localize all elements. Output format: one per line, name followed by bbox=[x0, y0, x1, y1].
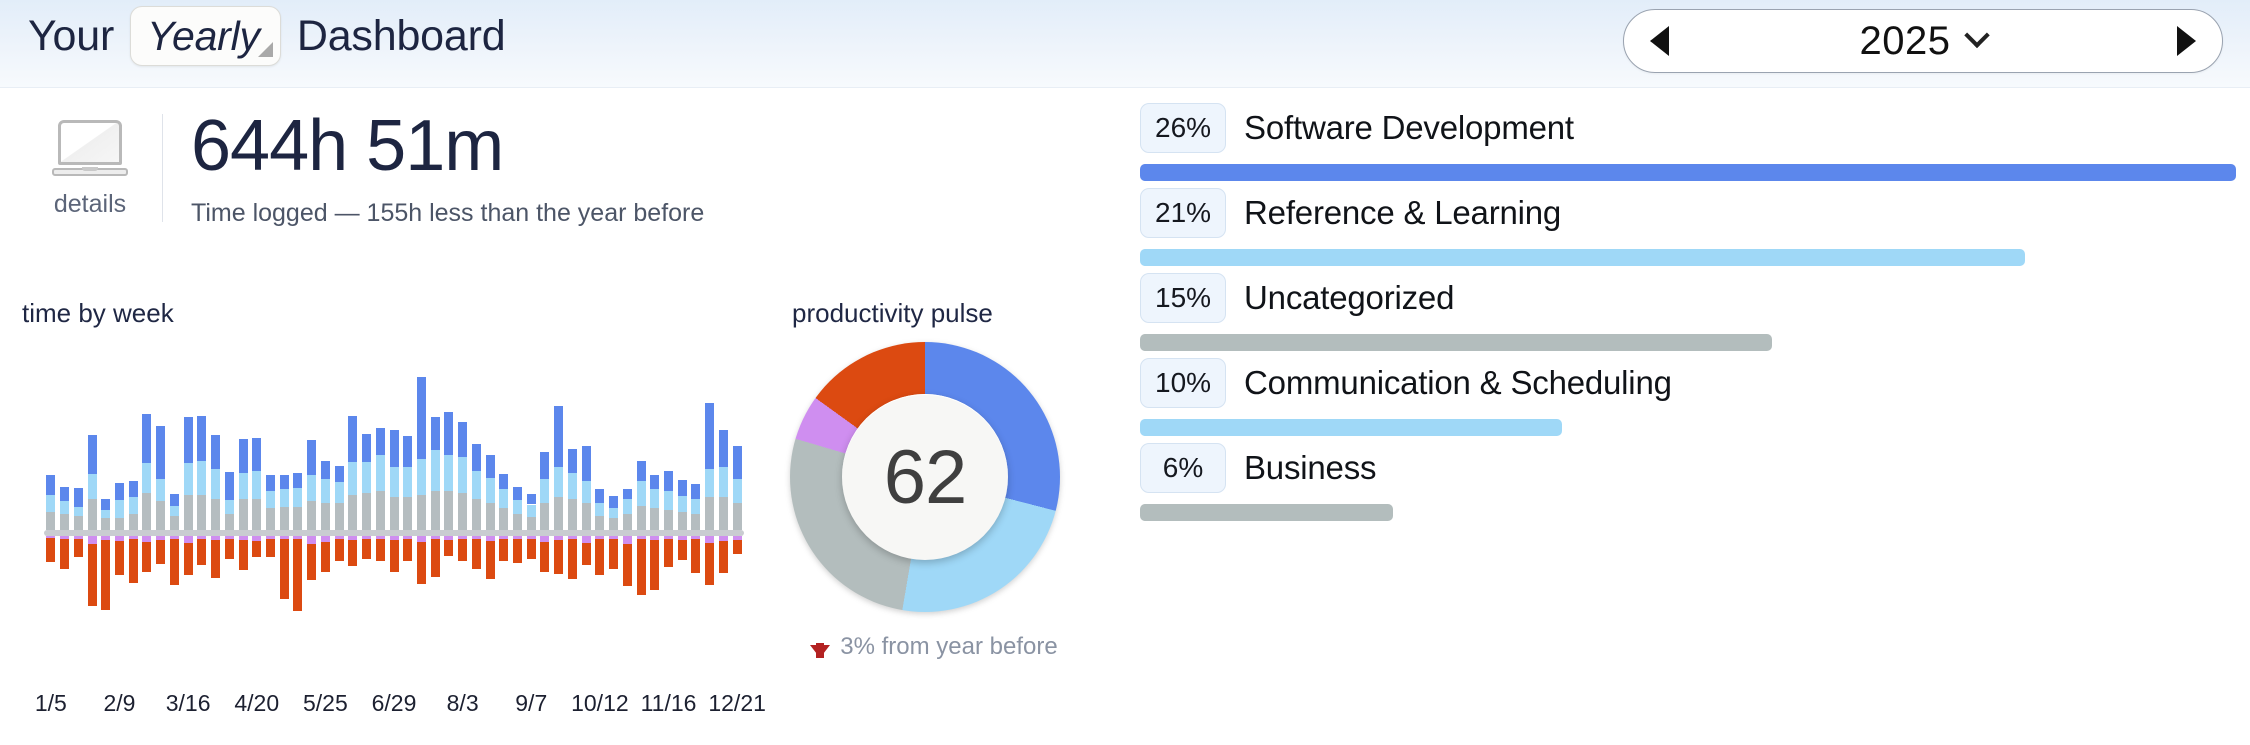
week-bar bbox=[266, 346, 275, 676]
bar-segment bbox=[582, 536, 591, 543]
bar-segment bbox=[74, 488, 83, 506]
bar-segment bbox=[184, 543, 193, 575]
year-dropdown[interactable]: 2025 bbox=[1860, 19, 1987, 64]
bar-segment bbox=[513, 539, 522, 563]
week-bar bbox=[417, 346, 426, 676]
bar-segment bbox=[390, 430, 399, 467]
bar-segment bbox=[46, 538, 55, 562]
bar-segment bbox=[170, 539, 179, 585]
bar-segment bbox=[623, 544, 632, 586]
week-bar bbox=[609, 346, 618, 676]
bar-segment bbox=[540, 542, 549, 572]
bar-segment bbox=[266, 508, 275, 530]
bar-segment bbox=[60, 501, 69, 513]
bar-segment bbox=[170, 494, 179, 505]
week-bar bbox=[595, 346, 604, 676]
time-by-week-chart: time by week 1/52/93/164/205/256/298/39/… bbox=[22, 298, 762, 738]
bar-segment bbox=[582, 543, 591, 565]
bar-segment bbox=[691, 539, 700, 573]
week-bar bbox=[225, 346, 234, 676]
bar-segment bbox=[252, 471, 261, 500]
bar-segment bbox=[678, 512, 687, 530]
bar-segment bbox=[293, 507, 302, 530]
page-header: Your Yearly Dashboard 2025 bbox=[0, 0, 2250, 88]
bar-segment bbox=[719, 541, 728, 573]
bar-segment bbox=[513, 500, 522, 513]
week-bar bbox=[582, 346, 591, 676]
week-bar bbox=[307, 346, 316, 676]
bar-segment bbox=[486, 478, 495, 504]
bar-segment bbox=[499, 489, 508, 507]
x-axis-label: 11/16 bbox=[641, 690, 697, 717]
bar-segment bbox=[568, 473, 577, 500]
bar-segment bbox=[156, 426, 165, 479]
bar-segment bbox=[568, 449, 577, 472]
bar-segment bbox=[650, 540, 659, 590]
title-suffix: Dashboard bbox=[291, 12, 512, 61]
category-name: Uncategorized bbox=[1244, 279, 1454, 317]
bar-segment bbox=[142, 463, 151, 494]
triangle-right-icon[interactable] bbox=[2177, 26, 2196, 56]
category-bar bbox=[1140, 249, 2025, 266]
bar-segment bbox=[637, 461, 646, 481]
bar-segment bbox=[540, 479, 549, 503]
bar-segment bbox=[637, 481, 646, 505]
week-bar bbox=[211, 346, 220, 676]
category-header: 26%Software Development bbox=[1140, 102, 2236, 154]
bar-segment bbox=[184, 536, 193, 543]
week-bar bbox=[691, 346, 700, 676]
bar-segment bbox=[623, 499, 632, 513]
bar-segment bbox=[156, 479, 165, 501]
bar-segment bbox=[184, 417, 193, 463]
bar-segment bbox=[129, 497, 138, 513]
bar-segment bbox=[335, 466, 344, 482]
bar-segment bbox=[101, 540, 110, 610]
bar-segment bbox=[554, 540, 563, 574]
week-bar bbox=[335, 346, 344, 676]
bar-segment bbox=[595, 516, 604, 530]
bar-segment bbox=[266, 475, 275, 491]
bar-segment bbox=[156, 540, 165, 564]
bar-segment bbox=[307, 501, 316, 530]
category-header: 15%Uncategorized bbox=[1140, 272, 2236, 324]
week-bar bbox=[362, 346, 371, 676]
x-axis-label: 10/12 bbox=[571, 690, 629, 717]
x-axis-label: 3/16 bbox=[166, 690, 211, 717]
bar-segment bbox=[307, 536, 316, 544]
total-time-caption: Time logged — 155h less than the year be… bbox=[191, 199, 704, 228]
category-row[interactable]: 15%Uncategorized bbox=[1140, 272, 2236, 351]
week-bar bbox=[623, 346, 632, 676]
category-bar bbox=[1140, 334, 1772, 351]
x-axis-label: 1/5 bbox=[35, 690, 67, 717]
bar-segment bbox=[307, 475, 316, 502]
bar-segment bbox=[664, 510, 673, 530]
bar-segment bbox=[403, 539, 412, 561]
category-percent-badge: 15% bbox=[1140, 273, 1226, 323]
week-bar bbox=[486, 346, 495, 676]
bar-segment bbox=[60, 539, 69, 569]
bar-segment bbox=[376, 455, 385, 492]
bar-segment bbox=[691, 484, 700, 499]
bar-segment bbox=[486, 455, 495, 478]
bar-segment bbox=[623, 536, 632, 544]
bar-segment bbox=[293, 473, 302, 488]
bar-segment bbox=[472, 444, 481, 471]
bar-segment bbox=[211, 469, 220, 500]
bar-segment bbox=[46, 512, 55, 530]
bar-segment bbox=[486, 541, 495, 579]
bar-segment bbox=[431, 450, 440, 491]
bar-segment bbox=[376, 491, 385, 530]
bar-segment bbox=[184, 495, 193, 530]
bar-segment bbox=[595, 503, 604, 515]
bar-segment bbox=[609, 539, 618, 569]
bar-segment bbox=[390, 540, 399, 572]
week-bar bbox=[74, 346, 83, 676]
bar-segment bbox=[623, 489, 632, 499]
bar-segment bbox=[719, 497, 728, 530]
category-row[interactable]: 21%Reference & Learning bbox=[1140, 187, 2236, 266]
bar-segment bbox=[678, 496, 687, 511]
bar-segment bbox=[225, 539, 234, 559]
category-header: 6%Business bbox=[1140, 442, 2236, 494]
bar-segment bbox=[88, 474, 97, 500]
week-bar bbox=[733, 346, 742, 676]
bar-segment bbox=[417, 542, 426, 584]
bar-segment bbox=[88, 544, 97, 606]
productivity-pulse-title: productivity pulse bbox=[792, 298, 993, 329]
x-axis-label: 6/29 bbox=[372, 690, 417, 717]
bar-segment bbox=[348, 462, 357, 496]
week-bar bbox=[568, 346, 577, 676]
week-bar bbox=[678, 346, 687, 676]
bar-segment bbox=[225, 500, 234, 513]
week-bar bbox=[499, 346, 508, 676]
bar-segment bbox=[197, 539, 206, 565]
bar-segment bbox=[307, 544, 316, 580]
bar-segment bbox=[211, 499, 220, 530]
bar-segment bbox=[458, 539, 467, 561]
bar-segment bbox=[609, 508, 618, 518]
week-bar bbox=[348, 346, 357, 676]
bar-segment bbox=[540, 452, 549, 479]
bar-segment bbox=[197, 416, 206, 461]
category-bar-track bbox=[1140, 249, 2236, 266]
bar-segment bbox=[417, 495, 426, 530]
bar-segment bbox=[335, 539, 344, 561]
bar-segment bbox=[74, 507, 83, 516]
bar-segment bbox=[115, 500, 124, 517]
week-bar bbox=[252, 346, 261, 676]
bar-segment bbox=[239, 473, 248, 500]
week-bar bbox=[376, 346, 385, 676]
week-bar bbox=[705, 346, 714, 676]
bar-segment bbox=[458, 457, 467, 494]
bar-segment bbox=[595, 539, 604, 575]
bar-segment bbox=[403, 497, 412, 530]
category-row[interactable]: 10%Communication & Scheduling bbox=[1140, 357, 2236, 436]
bar-segment bbox=[362, 434, 371, 462]
category-row[interactable]: 6%Business bbox=[1140, 442, 2236, 521]
bar-segment bbox=[664, 539, 673, 567]
bar-segment bbox=[280, 507, 289, 530]
week-bar bbox=[719, 346, 728, 676]
bar-segment bbox=[390, 467, 399, 498]
bar-segment bbox=[431, 491, 440, 530]
bar-segment bbox=[554, 497, 563, 530]
bar-segment bbox=[252, 541, 261, 557]
bar-segment bbox=[101, 510, 110, 518]
bar-segment bbox=[609, 518, 618, 530]
year-navigator: 2025 bbox=[1623, 9, 2223, 73]
bar-segment bbox=[348, 540, 357, 566]
week-bar bbox=[664, 346, 673, 676]
pulse-donut-hole: 62 bbox=[842, 394, 1008, 560]
pulse-trend: 3% from year before bbox=[794, 633, 1074, 661]
left-panel: details 644h 51m Time logged — 155h less… bbox=[0, 88, 1110, 745]
bar-segment bbox=[499, 539, 508, 561]
bar-segment bbox=[582, 503, 591, 530]
bar-segment bbox=[252, 499, 261, 530]
bar-segment bbox=[691, 514, 700, 530]
category-row[interactable]: 26%Software Development bbox=[1140, 102, 2236, 181]
category-bar bbox=[1140, 164, 2236, 181]
bar-segment bbox=[348, 495, 357, 530]
summary-divider bbox=[162, 114, 163, 222]
bar-segment bbox=[705, 403, 714, 469]
bar-segment bbox=[129, 514, 138, 530]
details-label: details bbox=[54, 190, 126, 219]
bar-segment bbox=[472, 471, 481, 500]
bar-segment bbox=[211, 435, 220, 469]
bar-segment bbox=[527, 505, 536, 517]
period-selector[interactable]: Yearly bbox=[130, 6, 281, 66]
bar-segment bbox=[307, 440, 316, 475]
details-button[interactable]: details bbox=[22, 108, 158, 228]
category-bar bbox=[1140, 419, 1562, 436]
bar-segment bbox=[280, 539, 289, 599]
bar-segment bbox=[74, 516, 83, 530]
bar-segment bbox=[156, 501, 165, 530]
bar-segment bbox=[705, 497, 714, 530]
title-prefix: Your bbox=[22, 12, 120, 61]
bar-segment bbox=[197, 461, 206, 496]
bar-segment bbox=[554, 406, 563, 467]
pulse-donut[interactable]: 62 bbox=[790, 342, 1060, 612]
dashboard-root: Your Yearly Dashboard 2025 bbox=[0, 0, 2250, 745]
bar-segment bbox=[472, 539, 481, 569]
bar-segment bbox=[88, 499, 97, 530]
bar-segment bbox=[595, 489, 604, 503]
bar-segment bbox=[733, 503, 742, 530]
arrow-down-icon bbox=[810, 645, 830, 658]
year-value: 2025 bbox=[1860, 19, 1951, 64]
week-bar bbox=[403, 346, 412, 676]
bar-segment bbox=[527, 494, 536, 504]
bar-segment bbox=[472, 499, 481, 530]
bar-segment bbox=[362, 539, 371, 559]
bar-segment bbox=[431, 539, 440, 577]
bar-segment bbox=[321, 461, 330, 479]
x-axis-label: 9/7 bbox=[515, 690, 547, 717]
bar-segment bbox=[568, 539, 577, 579]
page-title: Your Yearly Dashboard bbox=[22, 6, 511, 66]
productivity-pulse-card: productivity pulse 62 3% from year befor… bbox=[790, 298, 1100, 738]
week-bar bbox=[239, 346, 248, 676]
categories-panel: 26%Software Development21%Reference & Le… bbox=[1140, 88, 2250, 745]
week-bar bbox=[444, 346, 453, 676]
bar-segment bbox=[46, 495, 55, 511]
week-bar bbox=[115, 346, 124, 676]
bar-segment bbox=[582, 481, 591, 503]
bar-segment bbox=[321, 542, 330, 572]
chevron-down-icon bbox=[1965, 23, 1990, 48]
bar-segment bbox=[664, 471, 673, 491]
bar-segment bbox=[582, 446, 591, 481]
bar-segment bbox=[74, 539, 83, 557]
week-bar bbox=[472, 346, 481, 676]
bar-segment bbox=[293, 539, 302, 611]
week-bar bbox=[142, 346, 151, 676]
bar-segment bbox=[417, 377, 426, 459]
x-axis-label: 5/25 bbox=[303, 690, 348, 717]
bar-segment bbox=[637, 506, 646, 530]
laptop-icon bbox=[52, 120, 128, 176]
week-bar bbox=[650, 346, 659, 676]
bar-segment bbox=[513, 487, 522, 500]
bar-segment bbox=[486, 503, 495, 530]
week-bar bbox=[46, 346, 55, 676]
bar-segment bbox=[458, 422, 467, 457]
bar-segment bbox=[115, 518, 124, 530]
bar-segment bbox=[390, 497, 399, 530]
bar-segment bbox=[115, 541, 124, 575]
bar-segment bbox=[280, 475, 289, 489]
bar-segment bbox=[321, 503, 330, 530]
week-bar bbox=[280, 346, 289, 676]
bar-segment bbox=[733, 479, 742, 503]
category-percent-badge: 10% bbox=[1140, 358, 1226, 408]
bar-segment bbox=[335, 482, 344, 503]
category-header: 21%Reference & Learning bbox=[1140, 187, 2236, 239]
pulse-score: 62 bbox=[884, 434, 967, 521]
week-bar bbox=[637, 346, 646, 676]
bar-segment bbox=[60, 514, 69, 530]
bar-segment bbox=[88, 536, 97, 544]
triangle-left-icon[interactable] bbox=[1650, 26, 1669, 56]
week-bar bbox=[513, 346, 522, 676]
bar-segment bbox=[280, 489, 289, 506]
bar-segment bbox=[540, 503, 549, 530]
bar-segment bbox=[719, 467, 728, 498]
bar-segment bbox=[348, 416, 357, 462]
bar-segment bbox=[444, 412, 453, 455]
bar-segment bbox=[444, 455, 453, 492]
bar-segment bbox=[101, 499, 110, 509]
bar-segment bbox=[499, 508, 508, 530]
bar-segment bbox=[650, 489, 659, 507]
week-bar bbox=[184, 346, 193, 676]
bar-segment bbox=[650, 475, 659, 489]
bar-segment bbox=[46, 475, 55, 495]
week-bar bbox=[293, 346, 302, 676]
x-axis-label: 12/21 bbox=[708, 690, 766, 717]
bar-segment bbox=[321, 479, 330, 503]
week-bar bbox=[321, 346, 330, 676]
bar-segment bbox=[568, 499, 577, 530]
bar-segment bbox=[664, 491, 673, 509]
bar-segment bbox=[431, 417, 440, 451]
bar-segment bbox=[376, 428, 385, 455]
week-bar bbox=[431, 346, 440, 676]
bar-segment bbox=[88, 435, 97, 474]
bar-segment bbox=[623, 514, 632, 530]
bar-segment bbox=[376, 539, 385, 561]
bar-segment bbox=[362, 493, 371, 530]
pulse-trend-text: 3% from year before bbox=[840, 633, 1057, 661]
bar-segment bbox=[239, 540, 248, 570]
x-axis-label: 2/9 bbox=[103, 690, 135, 717]
bar-segment bbox=[239, 439, 248, 473]
bar-segment bbox=[403, 467, 412, 498]
bar-segment bbox=[129, 539, 138, 583]
bar-segment bbox=[458, 493, 467, 530]
bar-segment bbox=[266, 539, 275, 557]
bar-segment bbox=[403, 436, 412, 467]
bar-segment bbox=[499, 474, 508, 489]
bar-segment bbox=[239, 499, 248, 530]
bar-segment bbox=[293, 488, 302, 506]
bar-segment bbox=[678, 480, 687, 496]
bar-segment bbox=[527, 517, 536, 530]
bar-segment bbox=[115, 483, 124, 500]
category-percent-badge: 21% bbox=[1140, 188, 1226, 238]
bar-segment bbox=[142, 493, 151, 530]
week-bar bbox=[88, 346, 97, 676]
category-bar-track bbox=[1140, 504, 2236, 521]
category-name: Software Development bbox=[1244, 109, 1574, 147]
category-bar bbox=[1140, 504, 1393, 521]
week-bar bbox=[554, 346, 563, 676]
period-label: Yearly bbox=[147, 13, 260, 60]
bar-segment bbox=[170, 506, 179, 516]
bar-segment bbox=[211, 540, 220, 578]
bar-segment bbox=[142, 542, 151, 572]
x-axis-label: 8/3 bbox=[447, 690, 479, 717]
bar-segment bbox=[678, 540, 687, 560]
week-bar bbox=[527, 346, 536, 676]
week-bar bbox=[129, 346, 138, 676]
total-time-value: 644h 51m bbox=[191, 110, 704, 183]
category-percent-badge: 26% bbox=[1140, 103, 1226, 153]
bar-segment bbox=[101, 518, 110, 530]
category-name: Business bbox=[1244, 449, 1376, 487]
week-bar bbox=[390, 346, 399, 676]
bar-segment bbox=[252, 438, 261, 471]
bar-segment bbox=[197, 495, 206, 530]
category-bar-track bbox=[1140, 334, 2236, 351]
bar-segment bbox=[417, 459, 426, 496]
week-bar bbox=[540, 346, 549, 676]
bar-segment bbox=[335, 503, 344, 530]
bar-segment bbox=[609, 496, 618, 507]
bar-segment bbox=[705, 543, 714, 585]
category-header: 10%Communication & Scheduling bbox=[1140, 357, 2236, 409]
bar-segment bbox=[444, 491, 453, 530]
bar-segment bbox=[444, 540, 453, 556]
